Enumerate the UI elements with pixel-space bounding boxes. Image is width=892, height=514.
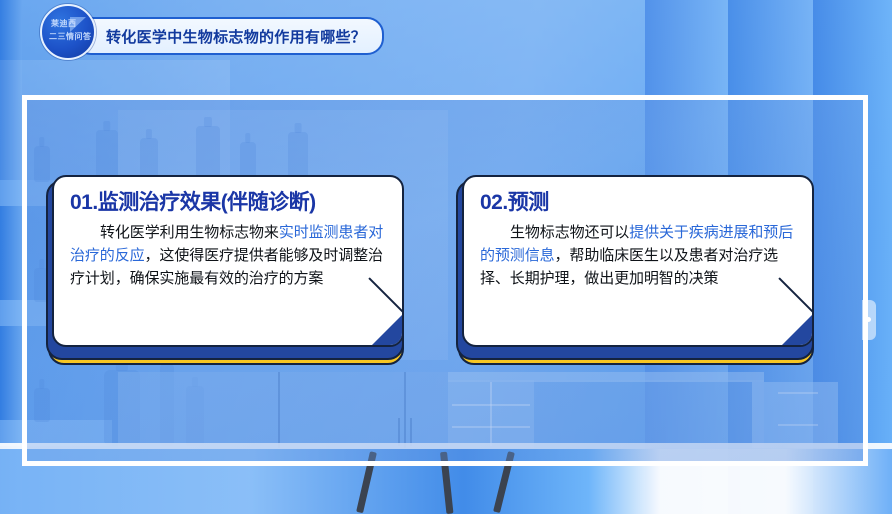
logo-mark: 莱迪西 二三情问答 <box>48 12 88 52</box>
card-surface: 02.预测 生物标志物还可以提供关于疾病进展和预后的预测信息，帮助临床医生以及患… <box>462 175 814 347</box>
card-title: 02.预测 <box>480 191 796 214</box>
card-title: 01.监测治疗效果(伴随诊断) <box>70 191 386 214</box>
header: 莱迪西 二三情问答 转化医学中生物标志物的作用有哪些？ <box>40 18 384 54</box>
logo-line-2: 二三情问答 <box>49 32 92 41</box>
card-fold-line <box>368 277 403 312</box>
card-group: 01.监测治疗效果(伴随诊断) 转化医学利用生物标志物来实时监测患者对治疗的反应… <box>22 95 868 466</box>
card-body-part: 转化医学利用生物标志物来 <box>100 224 279 241</box>
card-surface: 01.监测治疗效果(伴随诊断) 转化医学利用生物标志物来实时监测患者对治疗的反应… <box>52 175 404 347</box>
page-title: 转化医学中生物标志物的作用有哪些？ <box>106 26 366 47</box>
brand-logo-badge[interactable]: 莱迪西 二三情问答 <box>40 4 96 60</box>
logo-line-1: 莱迪西 <box>51 19 77 28</box>
card-fold-line <box>778 277 813 312</box>
card-02[interactable]: 02.预测 生物标志物还可以提供关于疾病进展和预后的预测信息，帮助临床医生以及患… <box>454 175 816 360</box>
card-body: 生物标志物还可以提供关于疾病进展和预后的预测信息，帮助临床医生以及患者对治疗选择… <box>480 222 796 290</box>
slide-canvas: 莱迪西 二三情问答 转化医学中生物标志物的作用有哪些？ 01.监测治疗效果(伴随… <box>0 0 892 514</box>
header-title-pill: 转化医学中生物标志物的作用有哪些？ <box>74 17 384 55</box>
card-body-part: 生物标志物还可以 <box>510 224 629 241</box>
card-01[interactable]: 01.监测治疗效果(伴随诊断) 转化医学利用生物标志物来实时监测患者对治疗的反应… <box>44 175 406 360</box>
card-body: 转化医学利用生物标志物来实时监测患者对治疗的反应，这使得医疗提供者能够及时调整治… <box>70 222 386 290</box>
